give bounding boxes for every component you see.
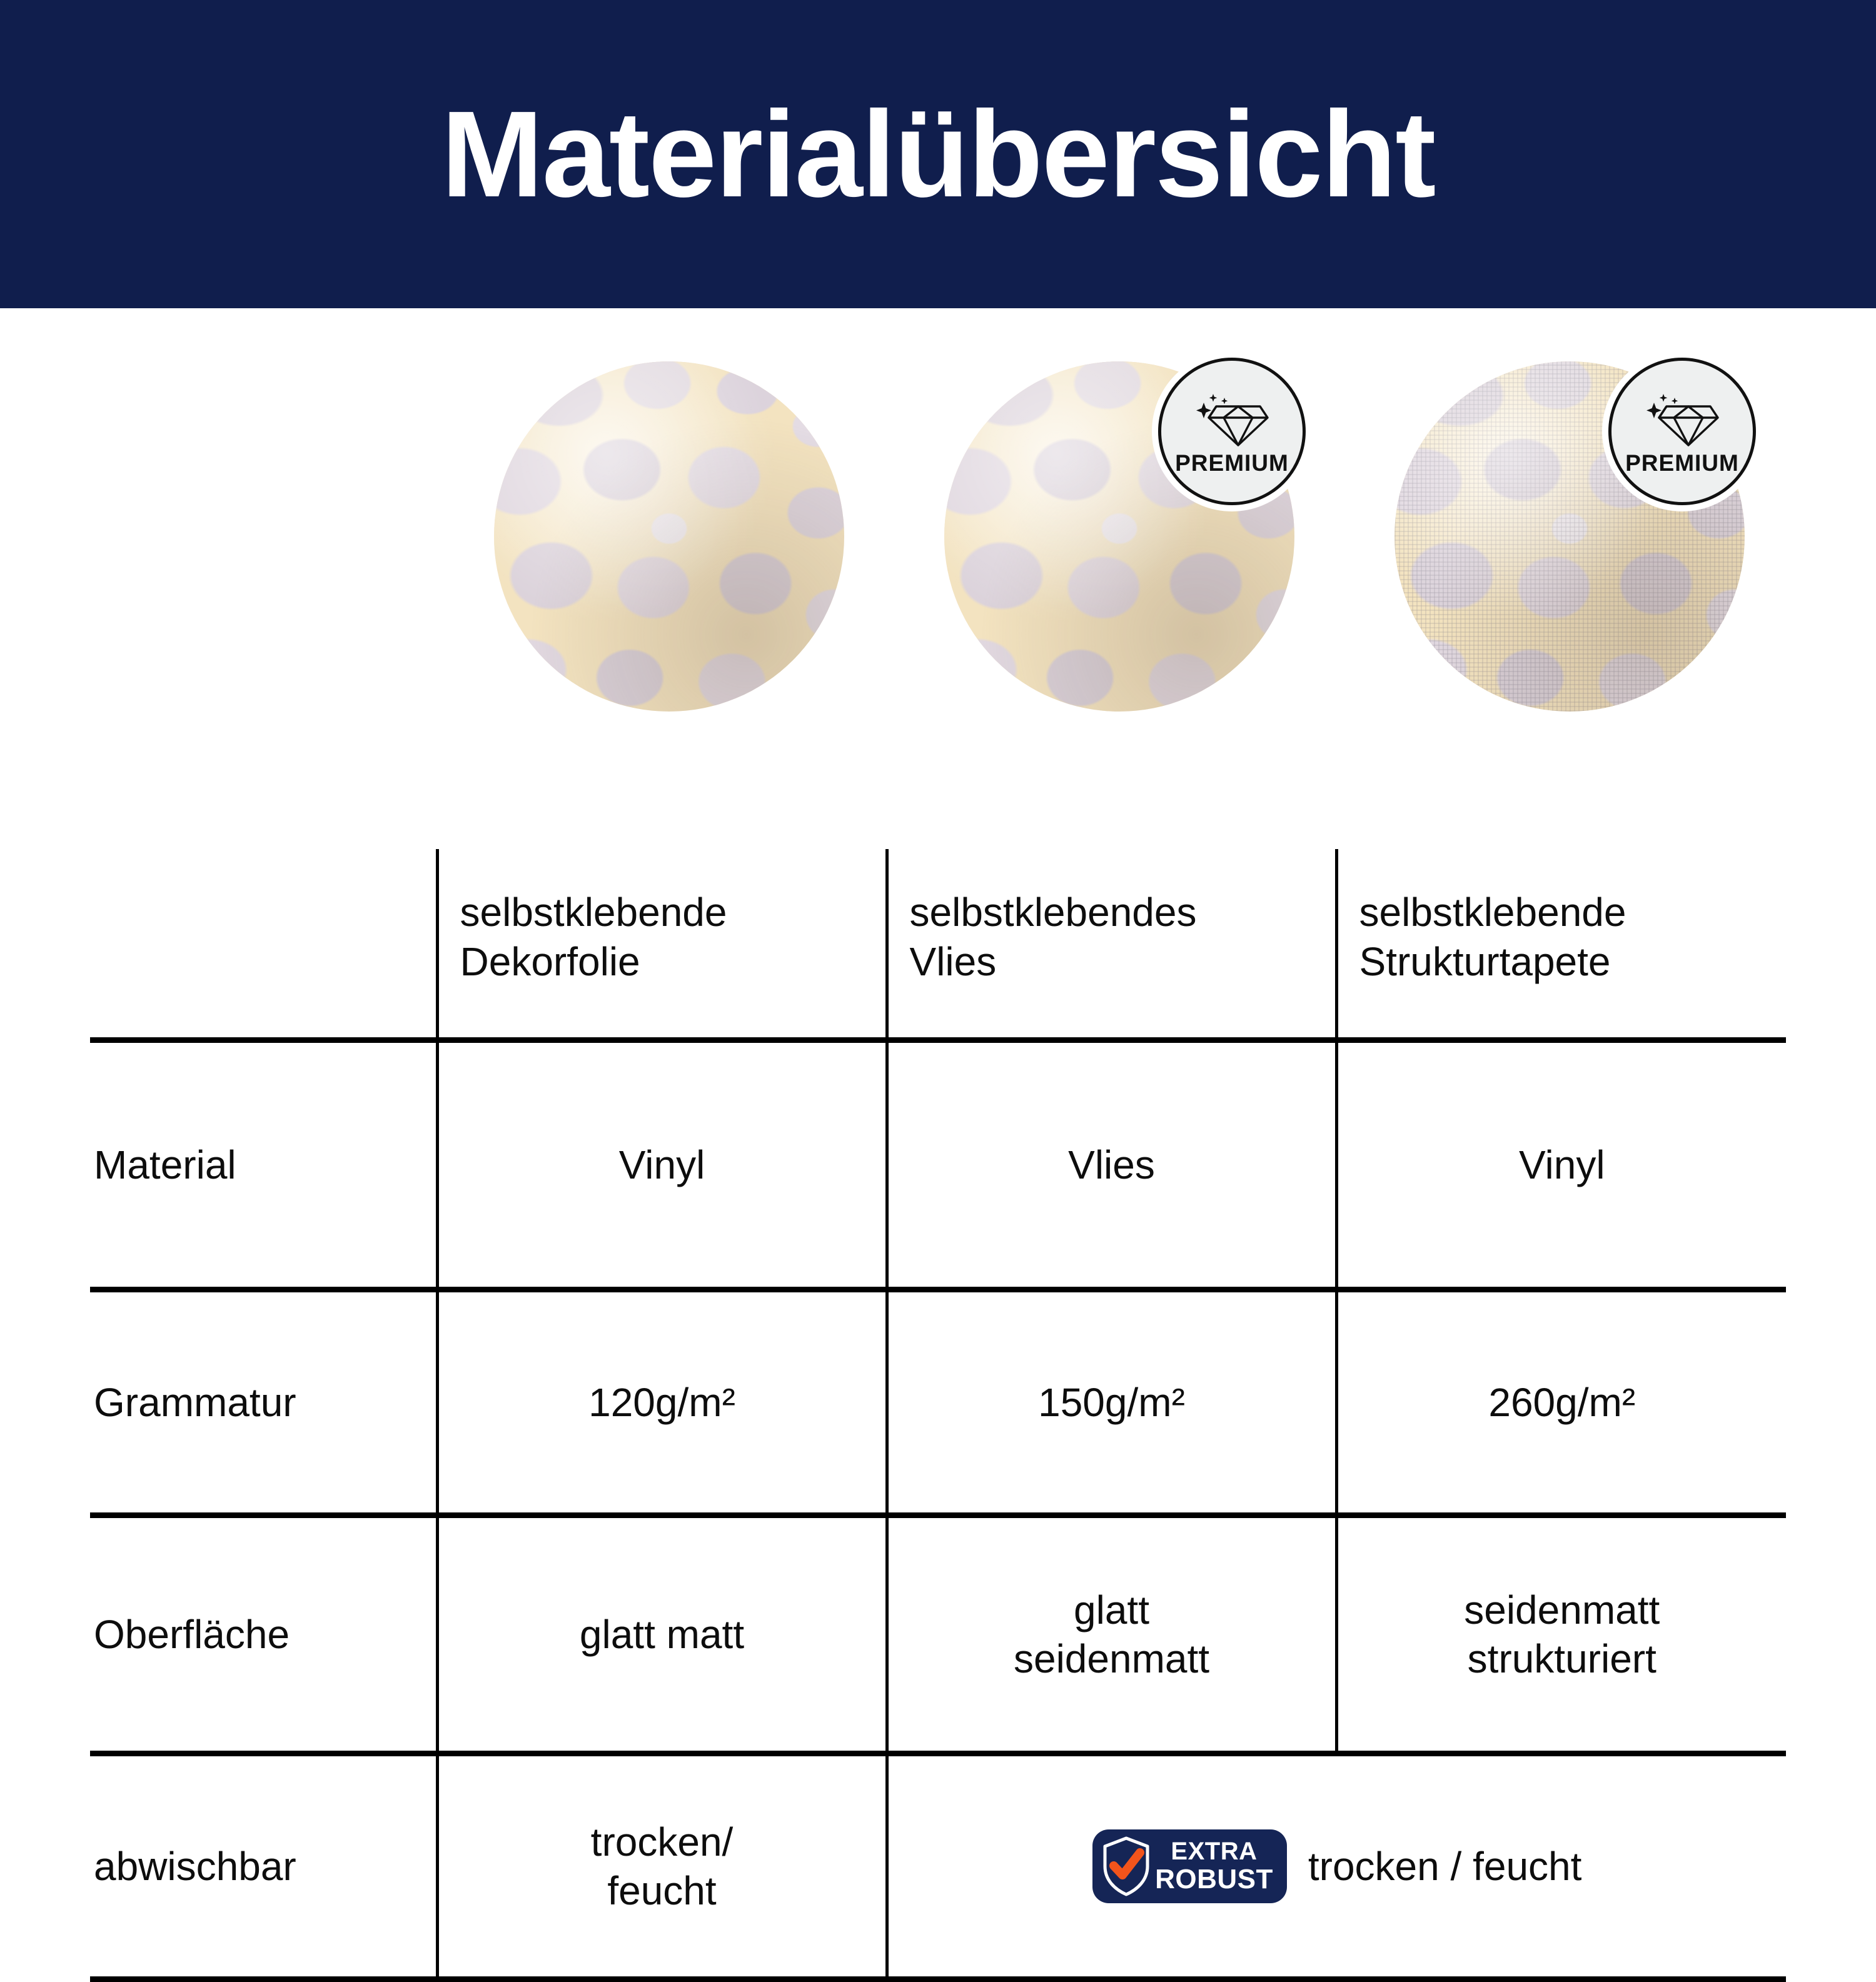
shield-check-icon: [1101, 1836, 1151, 1896]
header-empty-cell: [90, 849, 437, 1040]
premium-badge-strukturtapete: PREMIUM: [1608, 358, 1756, 505]
column-header-line1: selbstklebendes: [910, 888, 1326, 937]
extra-robust-badge: EXTRA ROBUST: [1092, 1829, 1287, 1903]
row-label-grammatur: Grammatur: [90, 1290, 437, 1516]
row-label-material: Material: [90, 1040, 437, 1290]
column-header-line2: Dekorfolie: [460, 937, 877, 986]
premium-badge-vlies: PREMIUM: [1158, 358, 1306, 505]
cell-line2: feucht: [448, 1866, 877, 1915]
cell-line2: strukturiert: [1347, 1634, 1778, 1683]
product-swatch-strip: PREMIUM PREMIUM: [0, 350, 1876, 738]
swatch-vlies[interactable]: PREMIUM: [944, 361, 1294, 724]
cell-abwischbar-dekorfolie: trocken/ feucht: [437, 1754, 887, 1979]
cell-material-strukturtapete: Vinyl: [1336, 1040, 1786, 1290]
column-header-line1: selbstklebende: [1359, 888, 1778, 937]
cell-grammatur-dekorfolie: 120g/m²: [437, 1290, 887, 1516]
cell-oberflaeche-vlies: glatt seidenmatt: [887, 1516, 1336, 1754]
table-header-row: selbstklebende Dekorfolie selbstklebende…: [90, 849, 1786, 1040]
robust-badge-line2: ROBUST: [1155, 1865, 1273, 1894]
diamond-icon: [1641, 391, 1723, 449]
material-comparison-table: selbstklebende Dekorfolie selbstklebende…: [90, 849, 1786, 1982]
cell-grammatur-strukturtapete: 260g/m²: [1336, 1290, 1786, 1516]
table-row-oberflaeche: Oberfläche glatt matt glatt seidenmatt s…: [90, 1516, 1786, 1754]
robust-badge-line1: EXTRA: [1155, 1838, 1273, 1864]
column-header-line2: Strukturtapete: [1359, 937, 1778, 986]
cell-material-vlies: Vlies: [887, 1040, 1336, 1290]
premium-badge-label: PREMIUM: [1625, 450, 1739, 476]
cell-line2: seidenmatt: [897, 1634, 1326, 1683]
column-header-strukturtapete: selbstklebende Strukturtapete: [1336, 849, 1786, 1040]
cell-abwischbar-merged-text: trocken / feucht: [1308, 1842, 1582, 1891]
table-row-abwischbar: abwischbar trocken/ feucht EXTRA: [90, 1754, 1786, 1979]
swatch-strukturtapete[interactable]: PREMIUM: [1394, 361, 1745, 724]
page-header: Materialübersicht: [0, 0, 1876, 308]
cell-grammatur-vlies: 150g/m²: [887, 1290, 1336, 1516]
page-title: Materialübersicht: [441, 93, 1435, 216]
diamond-icon: [1191, 391, 1273, 449]
cell-line1: glatt matt: [448, 1610, 877, 1659]
row-label-abwischbar: abwischbar: [90, 1754, 437, 1979]
sphere-shading: [494, 361, 844, 712]
table-row-material: Material Vinyl Vlies Vinyl: [90, 1040, 1786, 1290]
column-header-line2: Vlies: [910, 937, 1326, 986]
table-row-grammatur: Grammatur 120g/m² 150g/m² 260g/m²: [90, 1290, 1786, 1516]
cell-oberflaeche-dekorfolie: glatt matt: [437, 1516, 887, 1754]
cell-line1: seidenmatt: [1347, 1586, 1778, 1634]
cell-line1: glatt: [897, 1586, 1326, 1634]
column-header-vlies: selbstklebendes Vlies: [887, 849, 1336, 1040]
premium-badge-label: PREMIUM: [1175, 450, 1289, 476]
cell-oberflaeche-strukturtapete: seidenmatt strukturiert: [1336, 1516, 1786, 1754]
cell-line1: trocken/: [448, 1818, 877, 1866]
column-header-dekorfolie: selbstklebende Dekorfolie: [437, 849, 887, 1040]
swatch-dekorfolie[interactable]: [494, 361, 844, 724]
swatch-image-dekorfolie: [494, 361, 844, 712]
row-label-oberflaeche: Oberfläche: [90, 1516, 437, 1754]
cell-material-dekorfolie: Vinyl: [437, 1040, 887, 1290]
column-header-line1: selbstklebende: [460, 888, 877, 937]
cell-abwischbar-vlies-strukturtapete: EXTRA ROBUST trocken / feucht: [887, 1754, 1786, 1979]
